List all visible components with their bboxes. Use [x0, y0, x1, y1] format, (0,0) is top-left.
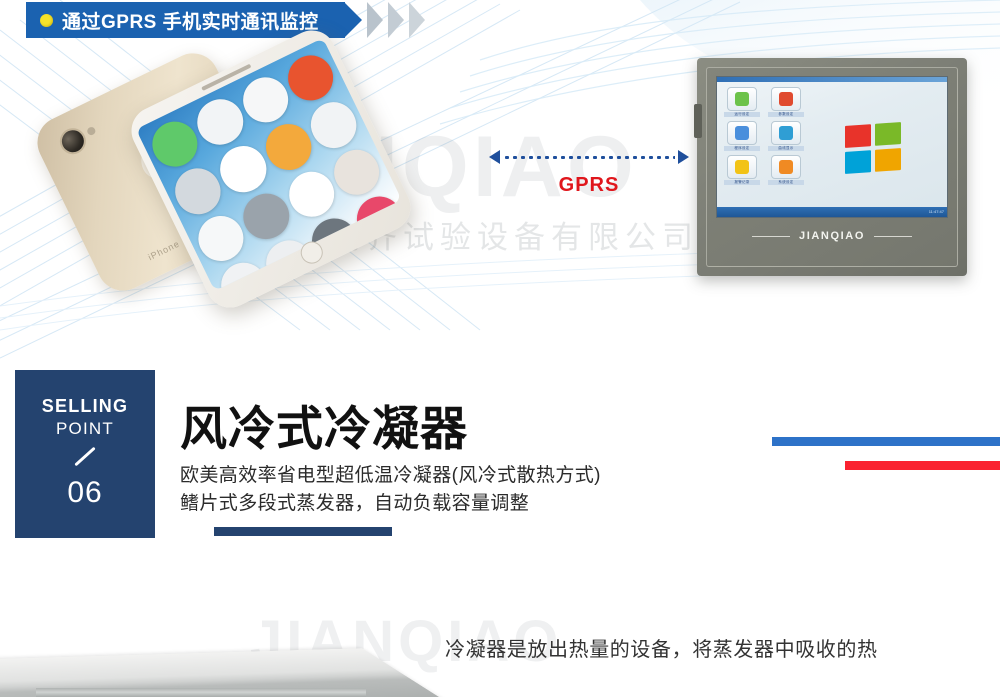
- hmi-icon-grid: 运行设定参数设定程序设定曲线显示报警记录系统设定: [724, 87, 804, 185]
- hmi-desktop: 运行设定参数设定程序设定曲线显示报警记录系统设定: [717, 82, 947, 207]
- app-icon: [349, 189, 402, 250]
- dotted-line: [503, 156, 675, 159]
- hmi-icon-label: 程序设定: [724, 146, 760, 151]
- hmi-app-icon: 程序设定: [724, 121, 760, 151]
- hmi-icon-tile: [771, 155, 801, 179]
- app-icon: [235, 70, 296, 131]
- bottom-paragraph: 冷凝器是放出热量的设备，将蒸发器中吸收的热: [445, 633, 878, 662]
- hmi-icon-glyph: [779, 92, 793, 106]
- hmi-icon-tile: [771, 87, 801, 111]
- hmi-taskbar: 11:47:47: [717, 207, 947, 217]
- hmi-icon-label: 系统设定: [768, 180, 804, 185]
- slash-divider-icon: [74, 447, 95, 467]
- chevron-right-icon: [388, 2, 404, 38]
- hmi-icon-glyph: [735, 160, 749, 174]
- chevron-group: [367, 2, 430, 38]
- windows-logo-quadrant: [845, 150, 871, 174]
- hmi-app-icon: 曲线显示: [768, 121, 804, 151]
- hmi-app-icon: 系统设定: [768, 155, 804, 185]
- iphone-brand-mark: iPhone: [146, 238, 181, 262]
- hmi-icon-label: 曲线显示: [768, 146, 804, 151]
- windows-logo-icon: [845, 122, 901, 174]
- windows-logo-quadrant: [845, 124, 871, 148]
- brand-rule-right: [874, 236, 912, 237]
- feature-subtitle-line2: 鳍片式多段式蒸发器，自动负载容量调整: [180, 490, 780, 518]
- arrow-right-icon: [678, 150, 689, 164]
- feature-subtitle: 欧美高效率省电型超低温冷凝器(风冷式散热方式) 鳍片式多段式蒸发器，自动负载容量…: [180, 462, 780, 517]
- feature-title: 风冷式冷凝器: [180, 404, 780, 453]
- app-icon: [372, 236, 402, 291]
- feature-underline: [214, 527, 392, 536]
- hmi-icon-tile: [727, 121, 757, 145]
- app-icon: [395, 283, 402, 291]
- accent-bar-blue: [772, 437, 1000, 446]
- selling-point-number: 06: [15, 476, 155, 510]
- selling-point-line1: SELLING: [15, 396, 155, 417]
- chevron-right-icon: [367, 2, 383, 38]
- app-icon: [327, 258, 388, 291]
- feature-block: 风冷式冷凝器 欧美高效率省电型超低温冷凝器(风冷式散热方式) 鳍片式多段式蒸发器…: [180, 404, 780, 536]
- brand-rule-left: [752, 236, 790, 237]
- hmi-bezel: 运行设定参数设定程序设定曲线显示报警记录系统设定 11:47:47 JIANQI…: [706, 67, 958, 267]
- app-icon: [258, 117, 319, 178]
- app-icon: [303, 95, 364, 156]
- app-icon: [282, 280, 343, 291]
- app-icon: [213, 139, 274, 200]
- app-icon: [326, 142, 387, 203]
- product-detail-page: JIANQIAO 广东剑齐试验设备有限公司 JIANQIAO 通过GPRS 手机…: [0, 0, 1000, 697]
- camera-flash-icon: [86, 126, 97, 137]
- app-icon: [190, 92, 251, 153]
- hmi-brand: JIANQIAO: [707, 230, 957, 242]
- app-icon: [281, 164, 342, 225]
- hmi-touch-panel: 运行设定参数设定程序设定曲线显示报警记录系统设定 11:47:47 JIANQI…: [697, 58, 967, 276]
- hmi-icon-glyph: [779, 160, 793, 174]
- app-icon: [280, 48, 341, 109]
- hmi-icon-label: 报警记录: [724, 180, 760, 185]
- hmi-brand-label: JIANQIAO: [799, 230, 865, 242]
- app-icon: [236, 186, 297, 247]
- hmi-screen: 运行设定参数设定程序设定曲线显示报警记录系统设定 11:47:47: [716, 76, 948, 218]
- hmi-icon-glyph: [779, 126, 793, 140]
- hmi-side-port: [694, 104, 702, 138]
- feature-subtitle-line1: 欧美高效率省电型超低温冷凝器(风冷式散热方式): [180, 462, 780, 490]
- hmi-icon-label: 参数设定: [768, 112, 804, 117]
- chevron-right-icon: [409, 2, 425, 38]
- hmi-icon-glyph: [735, 92, 749, 106]
- hmi-icon-tile: [771, 121, 801, 145]
- gprs-label: GPRS: [489, 174, 689, 197]
- banner-title: 通过GPRS 手机实时通讯监控: [62, 7, 319, 34]
- hmi-icon-glyph: [735, 126, 749, 140]
- banner-tag: 通过GPRS 手机实时通讯监控: [26, 2, 345, 38]
- windows-logo-quadrant: [875, 122, 901, 146]
- hmi-app-icon: 报警记录: [724, 155, 760, 185]
- hmi-app-icon: 运行设定: [724, 87, 760, 117]
- camera-lens-icon: [58, 126, 87, 155]
- selling-point-line2: POINT: [15, 419, 155, 439]
- windows-logo-quadrant: [875, 148, 901, 172]
- header-banner: 通过GPRS 手机实时通讯监控: [26, 2, 430, 38]
- hmi-clock: 11:47:47: [929, 209, 944, 214]
- hmi-app-icon: 参数设定: [768, 87, 804, 117]
- hmi-icon-tile: [727, 87, 757, 111]
- hmi-icon-label: 运行设定: [724, 112, 760, 117]
- gprs-arrow-line: [489, 150, 689, 164]
- gprs-link: GPRS: [489, 150, 689, 197]
- product-metal-edge: [36, 688, 366, 697]
- arrow-left-icon: [489, 150, 500, 164]
- yellow-dot-icon: [40, 14, 53, 27]
- selling-point-badge: SELLING POINT 06: [15, 370, 155, 538]
- accent-bar-red: [845, 461, 1000, 470]
- hmi-icon-tile: [727, 155, 757, 179]
